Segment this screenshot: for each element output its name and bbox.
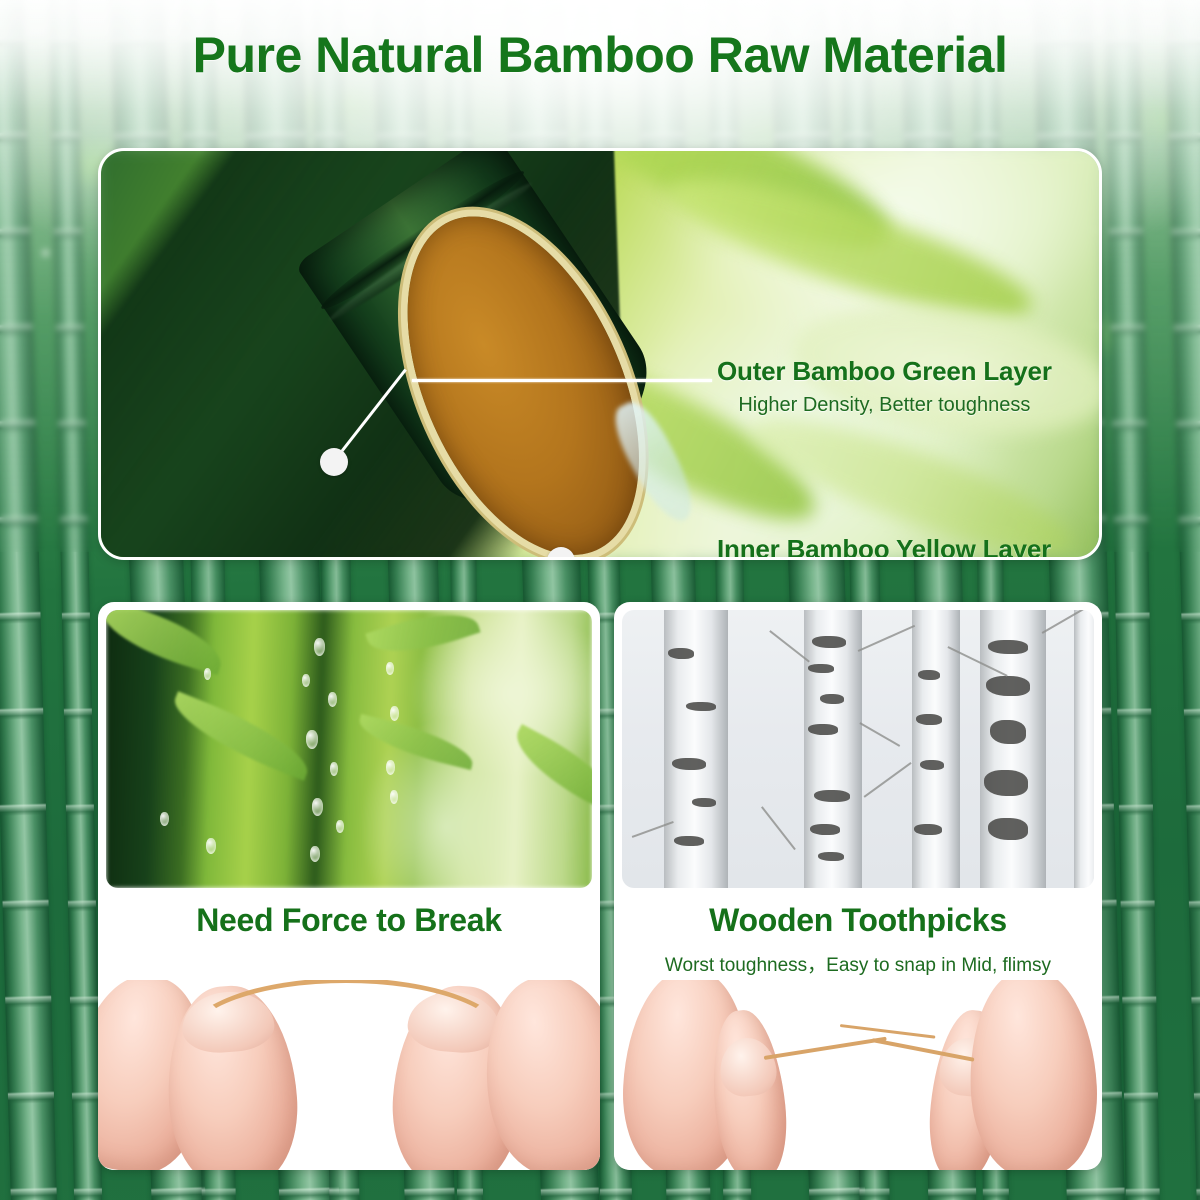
birch-bark-mark (686, 702, 716, 711)
callout-inner-title: Inner Bamboo Yellow Layer (717, 534, 1068, 560)
birch-bark-mark (988, 818, 1028, 840)
comparison-card-wooden-toothpicks: Wooden Toothpicks Worst toughness，Easy t… (614, 602, 1102, 1170)
page-title: Pure Natural Bamboo Raw Material (0, 26, 1200, 84)
water-droplet (336, 820, 344, 833)
birch-bark-mark (984, 770, 1028, 796)
card-subtitle-wooden-toothpicks: Worst toughness，Easy to snap in Mid, fli… (614, 950, 1102, 977)
water-droplet (390, 790, 398, 804)
birch-bark-mark (674, 836, 704, 846)
water-droplet (204, 668, 211, 680)
card-title-need-force: Need Force to Break (98, 902, 600, 939)
bare-twig (864, 762, 912, 797)
birch-bark-mark (988, 640, 1028, 654)
water-droplet (312, 798, 323, 816)
bamboo-toothpick-bend-demo (98, 980, 600, 1170)
card-title-wooden-toothpicks: Wooden Toothpicks (614, 902, 1102, 939)
water-droplet (390, 706, 399, 721)
callout-outer-layer: Outer Bamboo Green Layer Higher Density,… (717, 356, 1052, 417)
comparison-card-bamboo-toothpicks: Need Force to Break (98, 602, 600, 1170)
birch-bark-mark (808, 724, 838, 735)
birch-bark-mark (668, 648, 694, 659)
birch-bark-mark (812, 636, 846, 648)
bamboo-cross-section-panel: Outer Bamboo Green Layer Higher Density,… (98, 148, 1102, 560)
birch-bark-mark (818, 852, 844, 861)
birch-bark-mark (820, 694, 844, 704)
callout-leader-outer (412, 379, 712, 382)
water-droplet (314, 638, 325, 656)
water-droplet (160, 812, 169, 826)
birch-bark-mark (920, 760, 944, 770)
water-droplet (310, 846, 320, 862)
birch-bark-mark (986, 676, 1030, 696)
birch-trunk (804, 610, 862, 888)
bamboo-stalk-dew-photo (106, 610, 592, 888)
birch-trunk (1074, 610, 1094, 888)
wooden-toothpick-snapped-splinter (840, 1024, 936, 1039)
birch-bark-mark (814, 790, 850, 802)
bare-twig (761, 806, 795, 849)
birch-bark-mark (990, 720, 1026, 744)
finger-right-outer (965, 980, 1102, 1170)
bare-twig (860, 722, 901, 746)
water-droplet (206, 838, 216, 854)
water-droplet (386, 760, 395, 775)
birch-bark-mark (916, 714, 942, 725)
birch-bark-mark (810, 824, 840, 835)
callout-outer-subtitle: Higher Density, Better toughness (717, 394, 1052, 417)
water-droplet (302, 674, 310, 687)
birch-trees-photo (622, 610, 1094, 888)
bare-twig (858, 625, 915, 652)
callout-marker-outer-layer (320, 448, 348, 476)
callout-outer-title: Outer Bamboo Green Layer (717, 356, 1052, 387)
birch-trees-image (622, 610, 1094, 888)
water-droplet (386, 662, 394, 675)
wooden-toothpick-snap-demo (614, 980, 1102, 1170)
water-droplet (328, 692, 337, 707)
water-droplet (306, 730, 318, 749)
water-droplet (330, 762, 338, 776)
callout-inner-layer: Inner Bamboo Yellow Layer Slightly Lower… (717, 534, 1068, 560)
birch-bark-mark (808, 664, 834, 673)
birch-bark-mark (672, 758, 706, 770)
birch-bark-mark (914, 824, 942, 835)
birch-bark-mark (918, 670, 940, 680)
bamboo-toothpick-bent (186, 980, 506, 1098)
birch-bark-mark (692, 798, 716, 807)
wooden-toothpick-half-left (764, 1037, 887, 1060)
birch-trunk (912, 610, 960, 888)
bamboo-cross-section-photo (101, 151, 1099, 557)
